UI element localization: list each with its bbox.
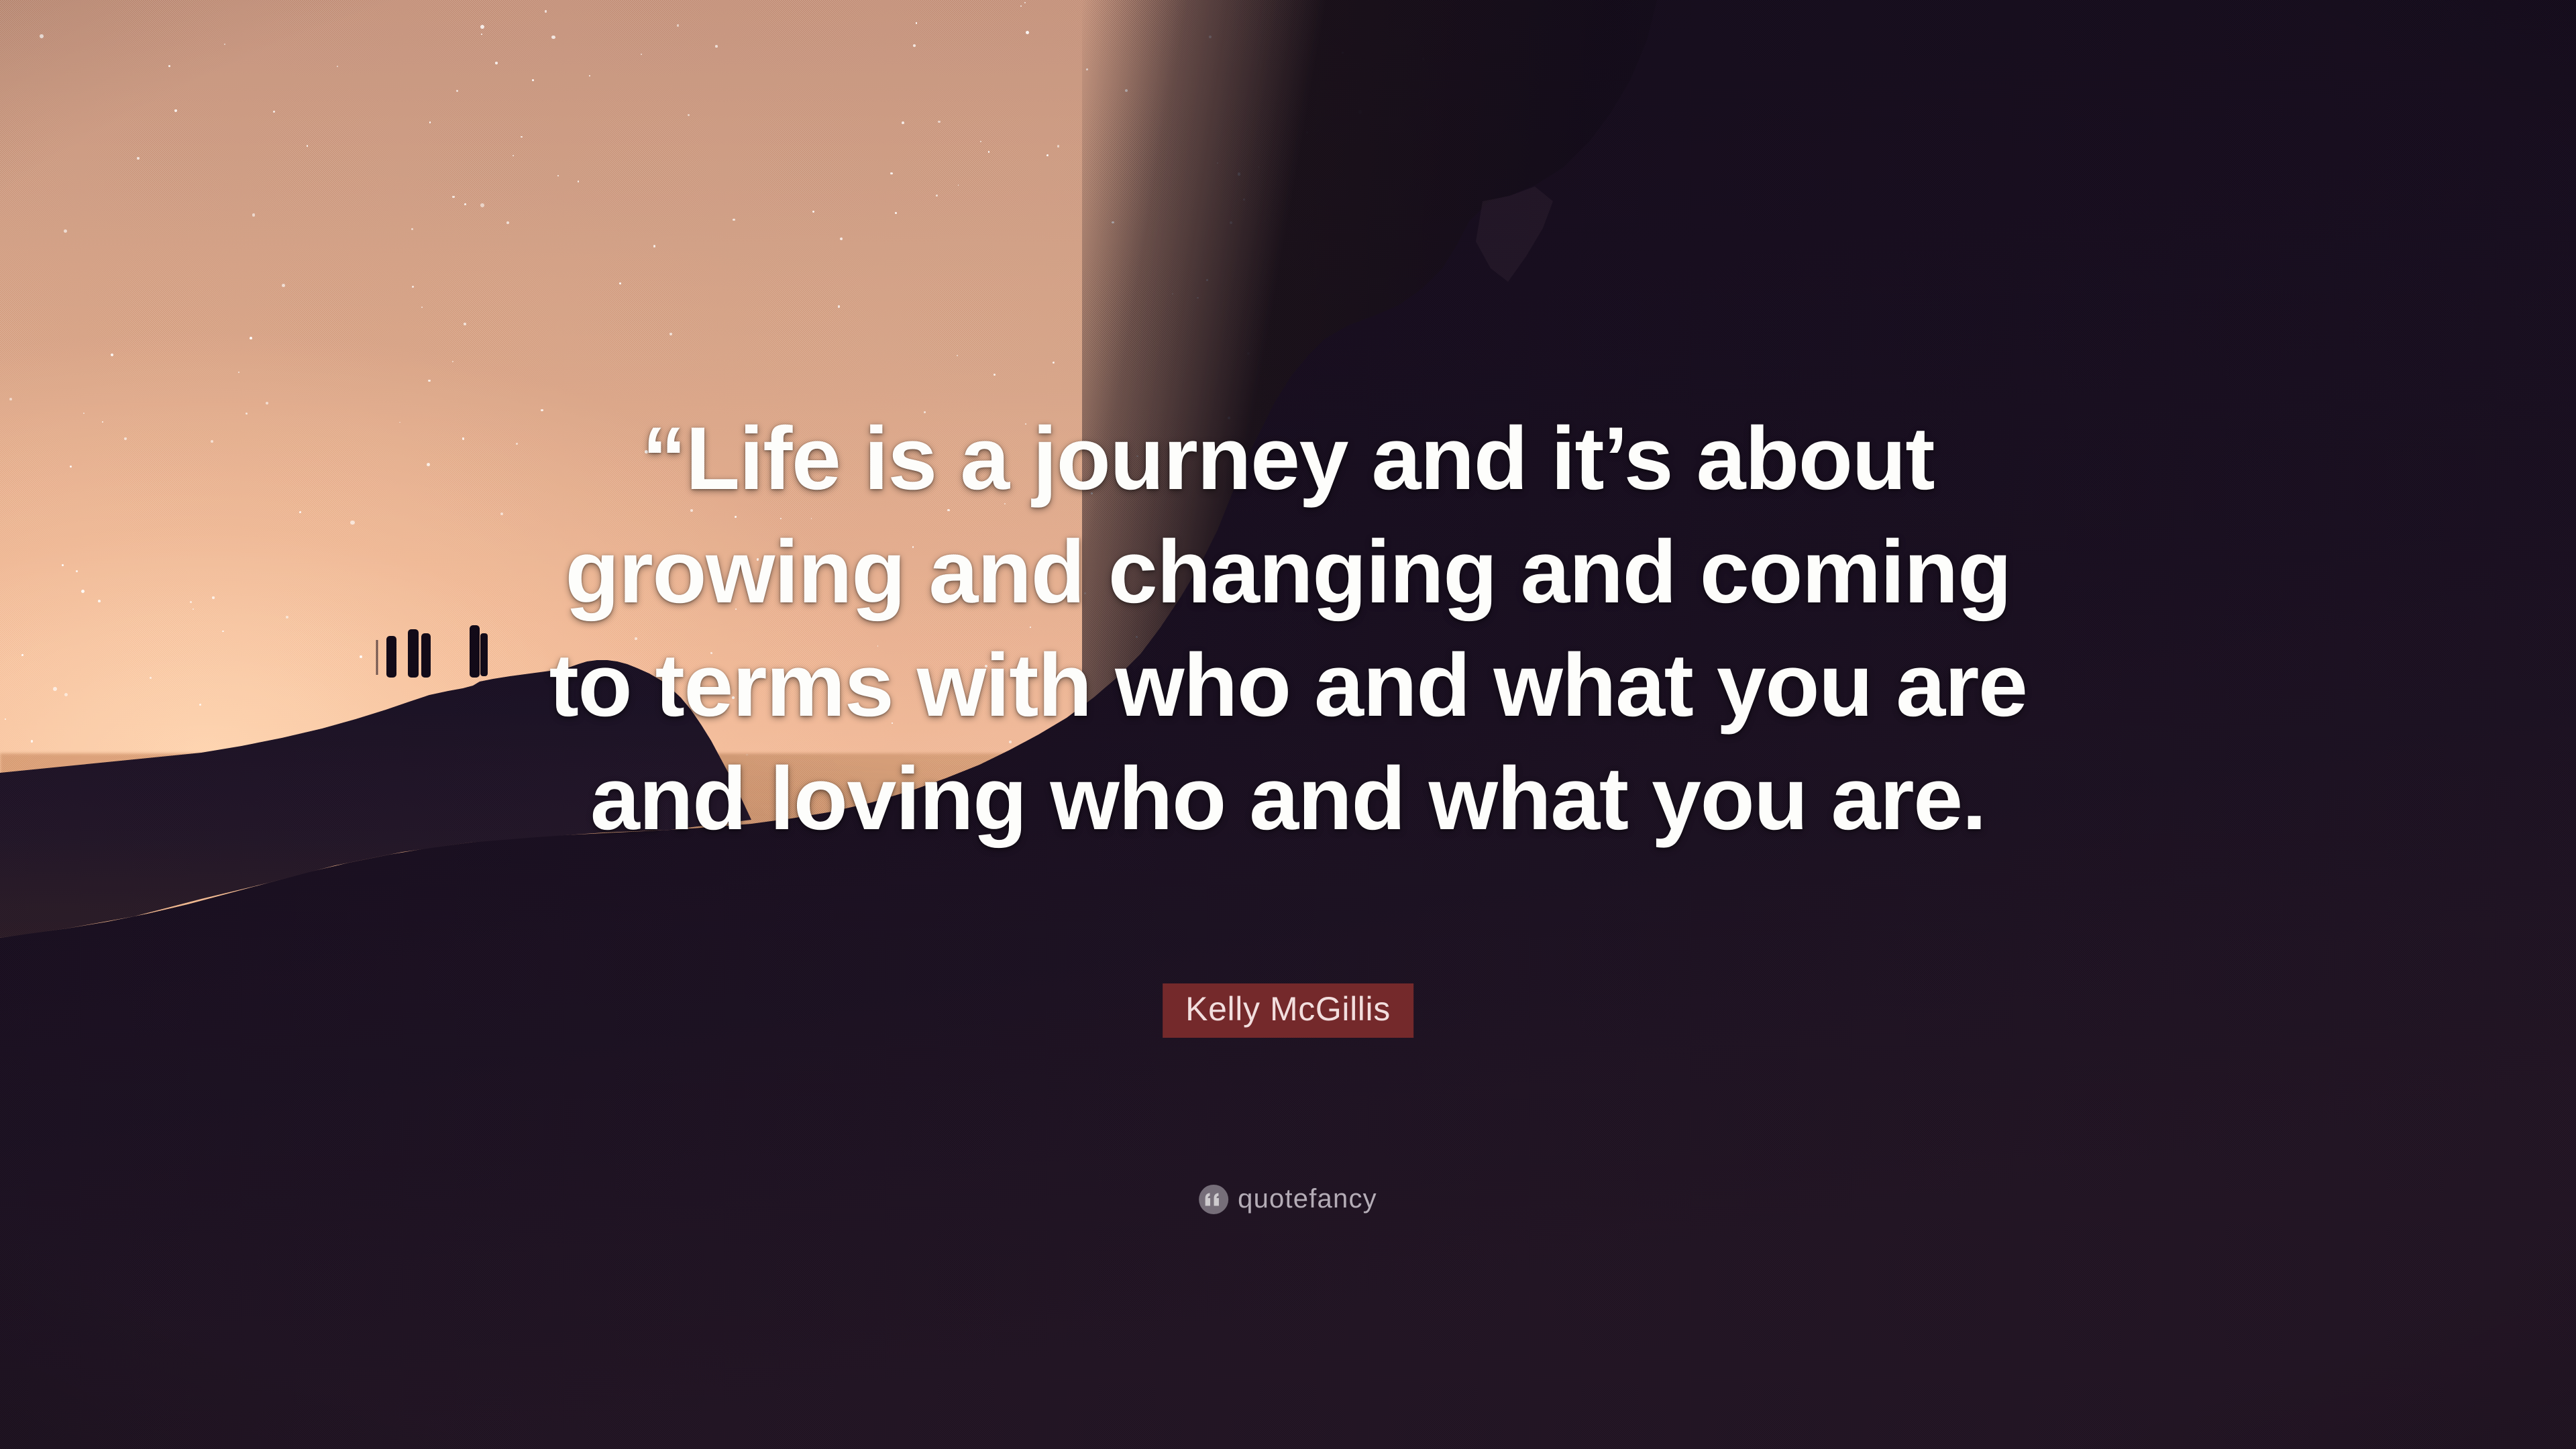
author-attribution: Kelly McGillis (1163, 983, 1413, 1038)
quotefancy-label: quotefancy (1238, 1184, 1377, 1214)
quote-line-2: growing and changing and coming (506, 516, 2070, 629)
quote-poster: “Life is a journey and it’s about growin… (0, 0, 2576, 1449)
quotefancy-watermark[interactable]: quotefancy (1199, 1184, 1377, 1214)
author-name-badge: Kelly McGillis (1163, 983, 1413, 1038)
quote-mark-icon (1199, 1185, 1228, 1214)
quote-text: “Life is a journey and it’s about growin… (506, 402, 2070, 856)
quote-line-4: and loving who and what you are. (506, 743, 2070, 856)
quote-line-3: to terms with who and what you are (506, 629, 2070, 743)
poster-content: “Life is a journey and it’s about growin… (0, 0, 2576, 1449)
quote-line-1: “Life is a journey and it’s about (506, 402, 2070, 516)
